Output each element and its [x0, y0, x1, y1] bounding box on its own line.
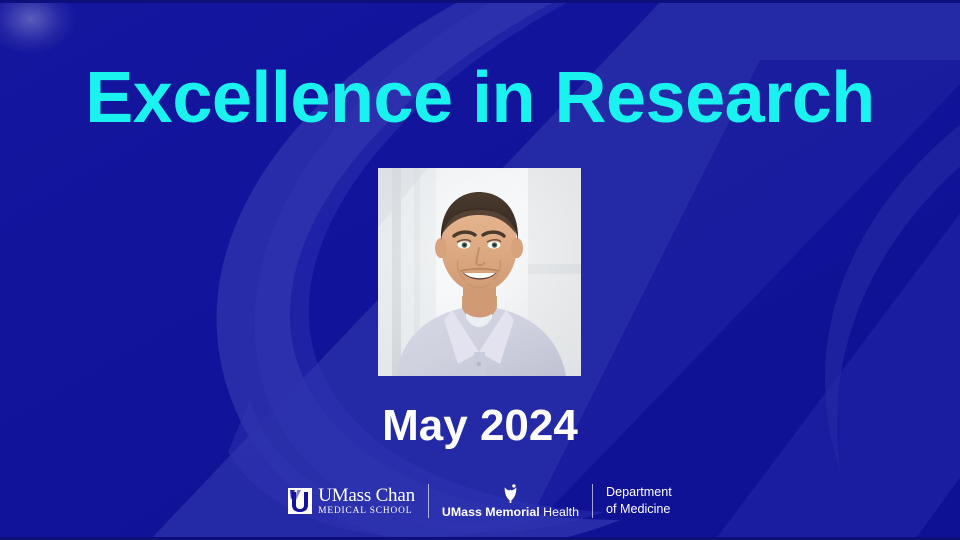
umass-memorial-health-logo: UMass Memorial Health [442, 479, 579, 523]
umass-chan-u-mark-icon [288, 488, 312, 514]
slide-title: Excellence in Research [0, 62, 960, 134]
logo-lockup: UMass Chan MEDICAL SCHOOL UMass Memorial… [0, 477, 960, 525]
presentation-slide: Excellence in Research [0, 0, 960, 540]
umass-memorial-tulip-icon [502, 484, 519, 503]
umass-memorial-wordmark: UMass Memorial Health [442, 506, 579, 518]
slide-date: May 2024 [0, 404, 960, 448]
umass-memorial-name-bold: UMass Memorial [442, 505, 540, 519]
slide-top-edge [0, 0, 960, 3]
logo-divider-2 [592, 484, 593, 518]
department-of-medicine-label: Department of Medicine [606, 479, 672, 523]
umass-chan-name: UMass Chan [318, 486, 415, 505]
umass-memorial-name-light: Health [540, 505, 579, 519]
logo-divider-1 [428, 484, 429, 518]
speaker-portrait [378, 168, 581, 376]
department-line-2: of Medicine [606, 502, 670, 516]
umass-chan-logo: UMass Chan MEDICAL SCHOOL [288, 479, 415, 523]
umass-chan-subtitle: MEDICAL SCHOOL [318, 507, 415, 516]
department-line-1: Department [606, 485, 672, 499]
